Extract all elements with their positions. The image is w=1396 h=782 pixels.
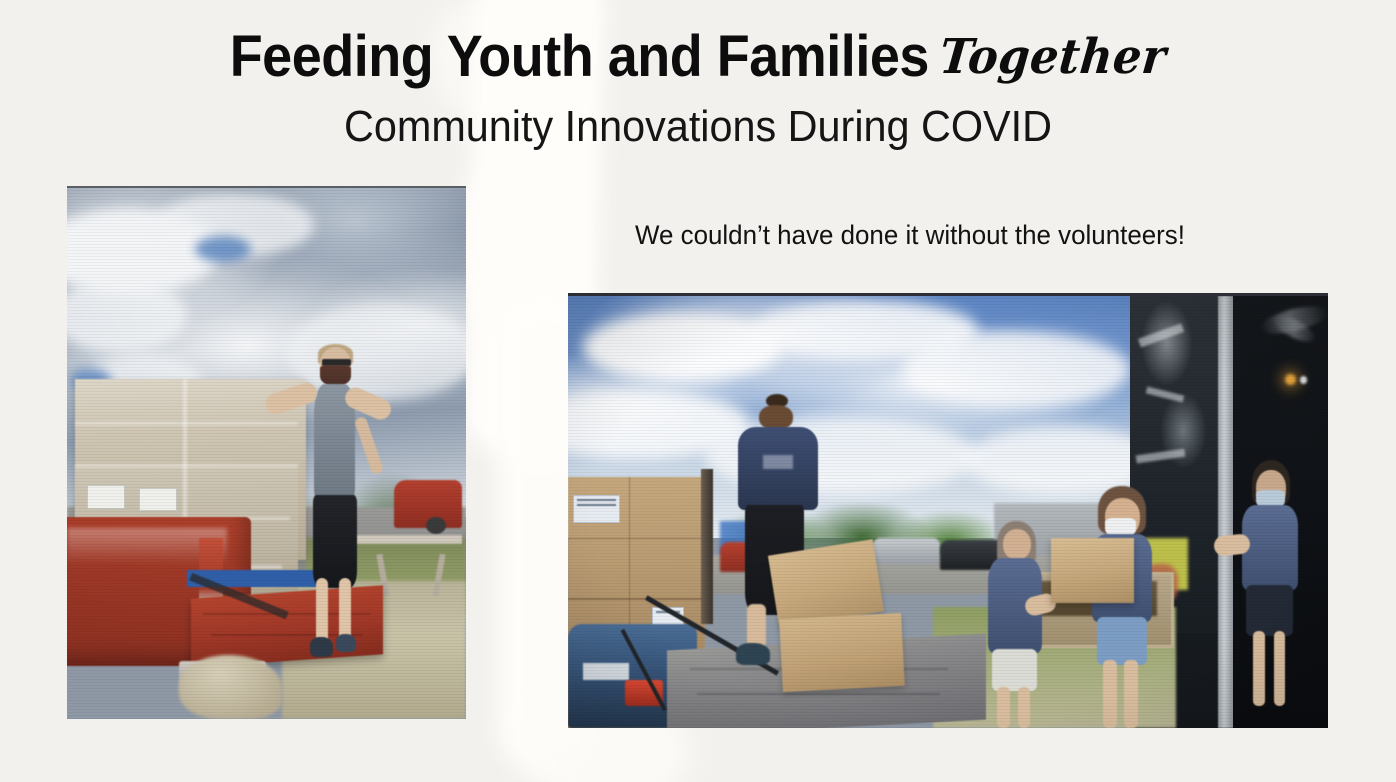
volunteers-unloading-boxes-brigade-photo — [568, 293, 1328, 728]
slide-title: Feeding Youth and FamiliesTogether — [49, 26, 1347, 91]
cardboard-box-on-bed — [779, 613, 904, 693]
rock — [179, 655, 283, 719]
interior-light — [1300, 376, 1308, 384]
leg — [1018, 687, 1030, 728]
white-shorts — [992, 649, 1037, 690]
leg — [1124, 660, 1138, 728]
cardboard-box-being-passed — [1051, 538, 1135, 603]
leg — [1103, 660, 1117, 728]
left-leg — [316, 578, 328, 644]
leg — [1274, 631, 1286, 706]
slide-canvas: Feeding Youth and FamiliesTogether Commu… — [0, 0, 1396, 782]
slide-title-main: Feeding Youth and Families — [230, 24, 929, 89]
right-forearm — [354, 416, 385, 476]
leg — [997, 687, 1009, 728]
title-block: Feeding Youth and FamiliesTogether Commu… — [0, 26, 1396, 153]
truck-bed-ridge — [697, 693, 940, 695]
head — [1003, 529, 1032, 560]
dark-shorts — [1246, 585, 1293, 635]
right-shoe — [336, 634, 356, 652]
box-seam — [568, 598, 705, 600]
blue-sky-gap — [195, 236, 251, 263]
metal-pole — [701, 469, 713, 625]
box-label — [139, 488, 177, 511]
volunteer-handing-box — [1085, 486, 1161, 728]
slide-subtitle: Community Innovations During COVID — [42, 101, 1354, 153]
license-plate — [583, 663, 629, 680]
denim-shorts — [1097, 617, 1147, 665]
box-label — [87, 485, 125, 508]
volunteer-in-doorway — [1237, 460, 1305, 711]
blue-volunteer-tshirt — [1242, 505, 1298, 590]
sneaker — [736, 643, 770, 665]
tshirt-logo — [763, 455, 793, 469]
cloud-shape — [902, 331, 1130, 409]
leg — [1253, 631, 1265, 706]
slide-title-script-word: Together — [937, 26, 1169, 88]
volunteer-receiving-box — [982, 521, 1050, 728]
face-mask — [320, 365, 351, 386]
navy-volunteer-tshirt — [738, 427, 818, 510]
volunteer-standing-on-truck-tailgate-photo — [67, 186, 466, 719]
person-standing-on-tailgate — [274, 347, 394, 676]
slide-caption: We couldn’t have done it without the vol… — [488, 220, 1333, 251]
interior-light — [1285, 374, 1296, 385]
box-seam — [568, 538, 705, 540]
black-capri-pants — [313, 495, 357, 587]
box-label — [573, 495, 621, 523]
calf — [747, 604, 765, 648]
left-shoe — [310, 637, 333, 657]
parked-car — [872, 538, 940, 564]
